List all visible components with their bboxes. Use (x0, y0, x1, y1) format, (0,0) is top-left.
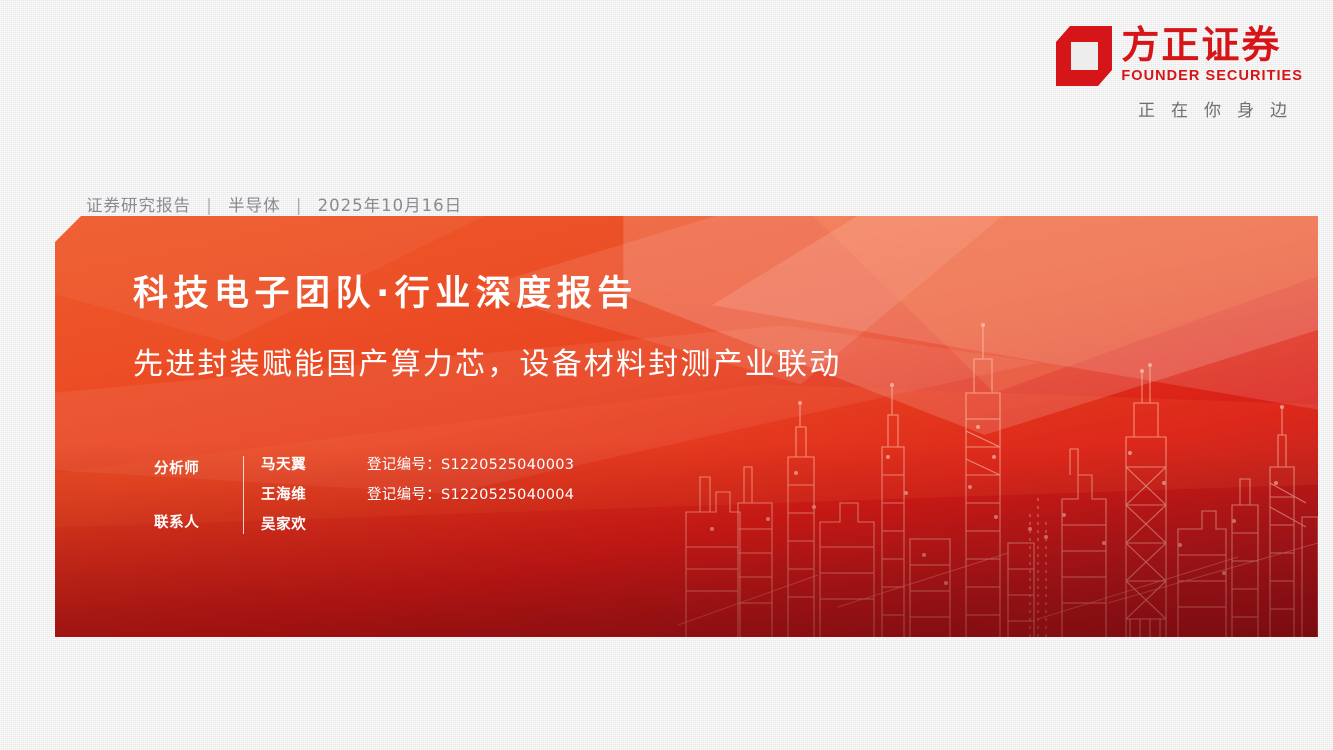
brand-name-en: FOUNDER SECURITIES (1121, 67, 1303, 85)
author-name-column: 马天翼 王海维 吴家欢 (261, 456, 339, 534)
banner-text-block: 科技电子团队·行业深度报告 先进封装赋能国产算力芯，设备材料封测产业联动 (133, 273, 841, 385)
report-meta-line: 证券研究报告 | 半导体 | 2025年10月16日 (86, 192, 462, 216)
registration-number-1: S1220525040003 (441, 457, 574, 473)
meta-date: 2025年10月16日 (318, 196, 462, 215)
author-name-1: 马天翼 (261, 457, 339, 474)
report-cover-banner: 科技电子团队·行业深度报告 先进封装赋能国产算力芯，设备材料封测产业联动 分析师… (55, 216, 1318, 637)
role-label-analyst: 分析师 (154, 457, 226, 478)
authors-divider (243, 456, 244, 534)
logo-row: 方正证券 FOUNDER SECURITIES (1013, 24, 1303, 85)
registration-label-1: 登记编号： (367, 457, 441, 473)
brand-name-cn: 方正证券 (1121, 24, 1303, 66)
author-name-3: 吴家欢 (261, 517, 339, 534)
registration-number-2: S1220525040004 (441, 487, 574, 503)
founder-securities-logo-icon (1056, 26, 1112, 86)
registration-row-1: 登记编号：S1220525040003 (367, 457, 574, 474)
page-subtitle: 先进封装赋能国产算力芯，设备材料封测产业联动 (133, 345, 841, 385)
author-name-2: 王海维 (261, 487, 339, 504)
author-role-column: 分析师 联系人 (154, 456, 226, 534)
page-title: 科技电子团队·行业深度报告 (133, 273, 841, 315)
banner-facet-right-3 (813, 216, 1318, 393)
brand-block: 方正证券 FOUNDER SECURITIES 正在你身边 (1013, 24, 1303, 121)
meta-sector: 半导体 (228, 196, 281, 215)
meta-report-type: 证券研究报告 (86, 196, 191, 215)
registration-row-2: 登记编号：S1220525040004 (367, 487, 574, 504)
authors-block: 分析师 联系人 马天翼 王海维 吴家欢 登记编号：S1220525040003 … (154, 456, 574, 534)
brand-tagline: 正在你身边 (1013, 96, 1303, 121)
author-registration-column: 登记编号：S1220525040003 登记编号：S1220525040004 (367, 456, 574, 534)
registration-label-2: 登记编号： (367, 487, 441, 503)
meta-separator-1: | (206, 196, 213, 215)
logo-wordmark: 方正证券 FOUNDER SECURITIES (1121, 24, 1303, 85)
meta-separator-2: | (296, 196, 303, 215)
role-label-contact: 联系人 (154, 511, 226, 532)
